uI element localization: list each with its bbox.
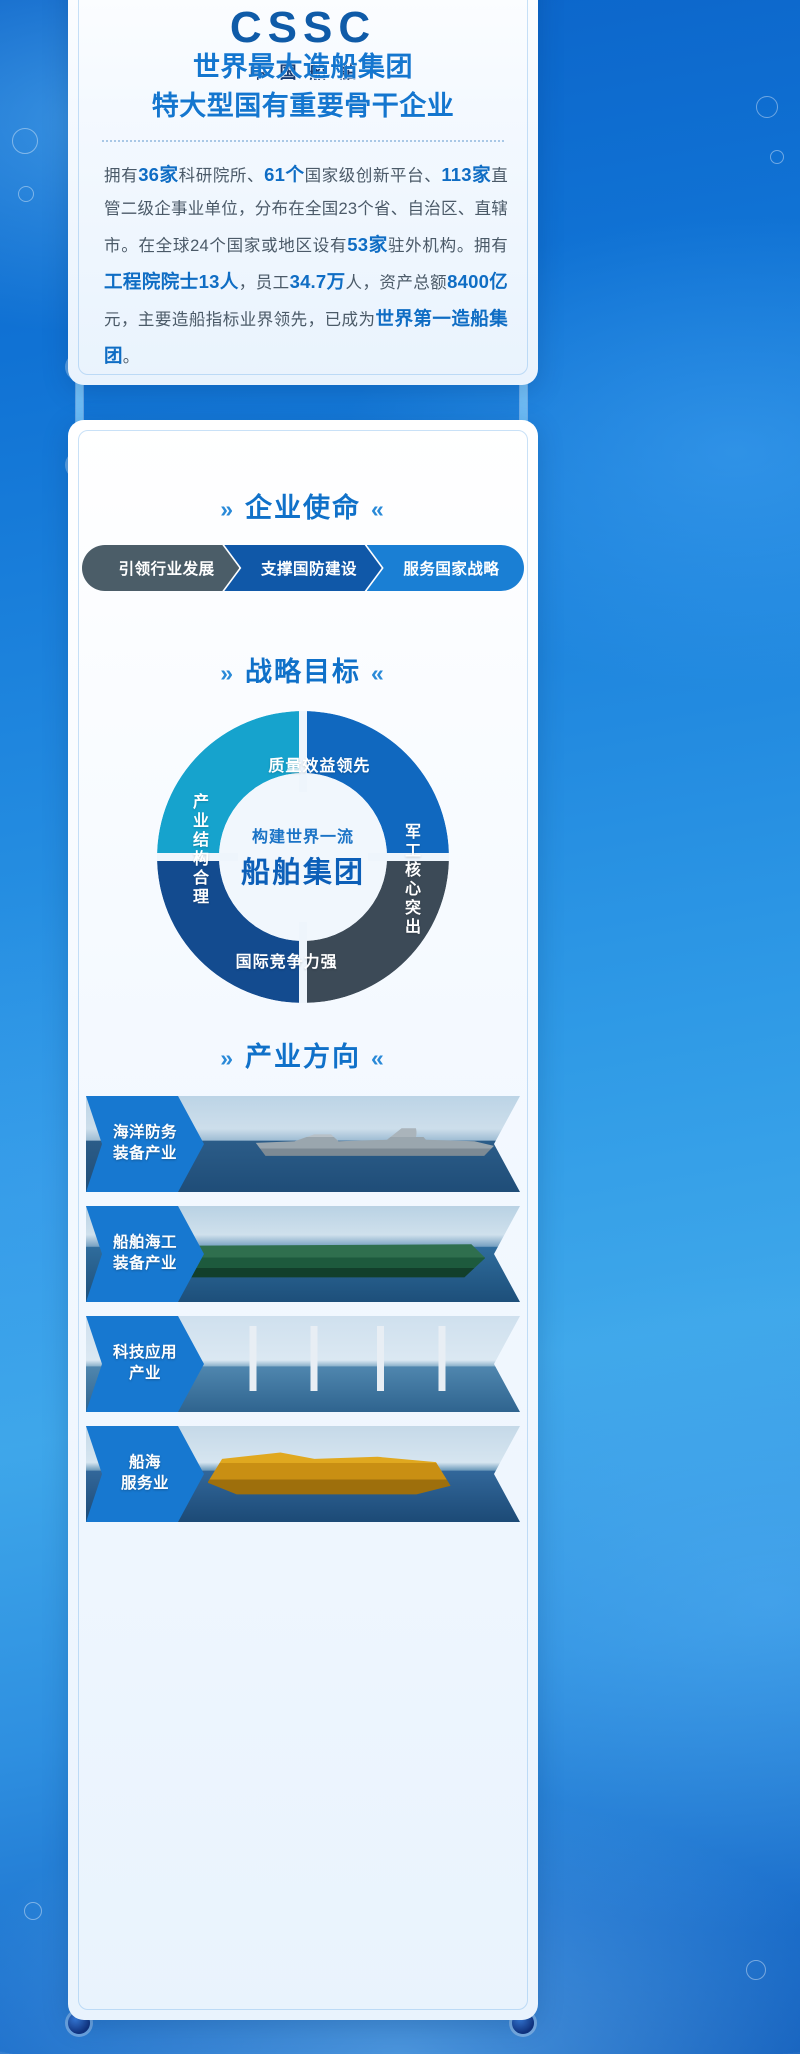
section-title-industry: 产业方向	[245, 1042, 361, 1072]
industry-tag-line-2: 装备产业	[113, 1144, 177, 1165]
industry-tag-line-1: 科技应用	[113, 1343, 177, 1364]
mission-badge-lead-industry[interactable]: 引领行业发展	[82, 545, 239, 591]
infographic-page: CSSC 中国船舶 世界最大造船集团 特大型国有重要骨干企业 拥有36家科研院所…	[0, 0, 800, 2054]
para-text: 人，资产总额	[346, 274, 448, 292]
chevron-left-icon: »	[210, 1045, 245, 1071]
intro-card: CSSC 中国船舶 世界最大造船集团 特大型国有重要骨干企业 拥有36家科研院所…	[68, 0, 538, 385]
industry-card-tech-application[interactable]: 科技应用 产业	[86, 1316, 520, 1412]
section-heading-mission: »企业使命«	[68, 486, 538, 525]
page-title: 世界最大造船集团 特大型国有重要骨干企业	[94, 48, 512, 126]
para-text: 科研院所、	[179, 167, 264, 185]
bubble-decoration	[770, 150, 784, 164]
chevron-left-icon: »	[210, 660, 245, 686]
bubble-decoration	[24, 1902, 42, 1920]
headline-line-2: 特大型国有重要骨干企业	[94, 87, 512, 126]
para-text: 驻外机构。拥有	[388, 237, 508, 255]
para-text: 。	[123, 348, 140, 366]
para-highlight: 工程院院士13人	[104, 271, 239, 292]
intro-paragraph: 拥有36家科研院所、61个国家级创新平台、113家直管二级企事业单位，分布在全国…	[104, 156, 508, 374]
industry-tag-line-2: 产业	[129, 1364, 161, 1385]
para-text: ，员工	[239, 274, 290, 292]
section-heading-strategy: »战略目标«	[68, 650, 538, 689]
para-highlight: 8400亿	[447, 271, 508, 292]
section-title-mission: 企业使命	[245, 493, 361, 523]
bubble-decoration	[746, 1960, 766, 1980]
para-highlight: 61个	[264, 164, 304, 185]
bubble-decoration	[18, 186, 34, 202]
industry-tag-line-1: 船舶海工	[113, 1233, 177, 1254]
para-text: 国家级创新平台、	[305, 167, 442, 185]
para-highlight: 53家	[347, 234, 388, 255]
chevron-left-icon: »	[210, 496, 245, 522]
chevron-right-icon: «	[361, 1045, 396, 1071]
mission-badge-row: 引领行业发展 支撑国防建设 服务国家战略	[82, 545, 524, 591]
para-text: 元，主要造船指标业界领先，已成为	[104, 311, 375, 329]
section-heading-industry: »产业方向«	[68, 1035, 538, 1074]
bubble-decoration	[12, 128, 38, 154]
ring-center-small: 构建世界一流	[208, 823, 398, 847]
dotted-divider	[102, 140, 504, 142]
industry-card-ship-offshore[interactable]: 船舶海工 装备产业	[86, 1206, 520, 1302]
chevron-right-icon: «	[361, 660, 396, 686]
ring-label-industry-structure: 产业结构合理	[186, 793, 210, 907]
industry-card-marine-services[interactable]: 船海 服务业	[86, 1426, 520, 1522]
ring-label-defense-core: 军工核心突出	[398, 823, 422, 937]
mission-badge-label: 服务国家战略	[403, 557, 499, 579]
ring-label-quality: 质量效益领先	[268, 752, 370, 776]
headline-line-1: 世界最大造船集团	[94, 48, 512, 87]
logo-mark: CSSC	[230, 6, 376, 50]
mission-badge-label: 支撑国防建设	[261, 557, 357, 579]
industry-tag-line-1: 船海	[129, 1453, 161, 1474]
industry-tag-line-2: 服务业	[121, 1474, 169, 1495]
mission-badge-label: 引领行业发展	[119, 557, 215, 579]
para-highlight: 36家	[138, 164, 178, 185]
ring-center-big: 船舶集团	[208, 849, 398, 891]
mission-badge-serve-strategy[interactable]: 服务国家战略	[367, 545, 524, 591]
body-card: »企业使命« 引领行业发展 支撑国防建设 服务国家战略 »战略目标«	[68, 420, 538, 2020]
para-highlight: 113家	[441, 164, 491, 185]
para-highlight: 34.7万	[290, 271, 346, 292]
industry-tag-line-1: 海洋防务	[113, 1123, 177, 1144]
bubble-decoration	[756, 96, 778, 118]
para-text: 拥有	[104, 167, 138, 185]
ring-center-text: 构建世界一流 船舶集团	[208, 823, 398, 891]
section-title-strategy: 战略目标	[245, 657, 361, 687]
ring-label-competitiveness: 国际竞争力强	[236, 948, 338, 972]
mission-badge-support-defense[interactable]: 支撑国防建设	[224, 545, 381, 591]
strategy-ring-diagram: 质量效益领先 军工核心突出 国际竞争力强 产业结构合理 构建世界一流 船舶集团	[154, 708, 452, 1006]
chevron-right-icon: «	[361, 496, 396, 522]
industry-card-marine-defense[interactable]: 海洋防务 装备产业	[86, 1096, 520, 1192]
industry-tag-line-2: 装备产业	[113, 1254, 177, 1275]
